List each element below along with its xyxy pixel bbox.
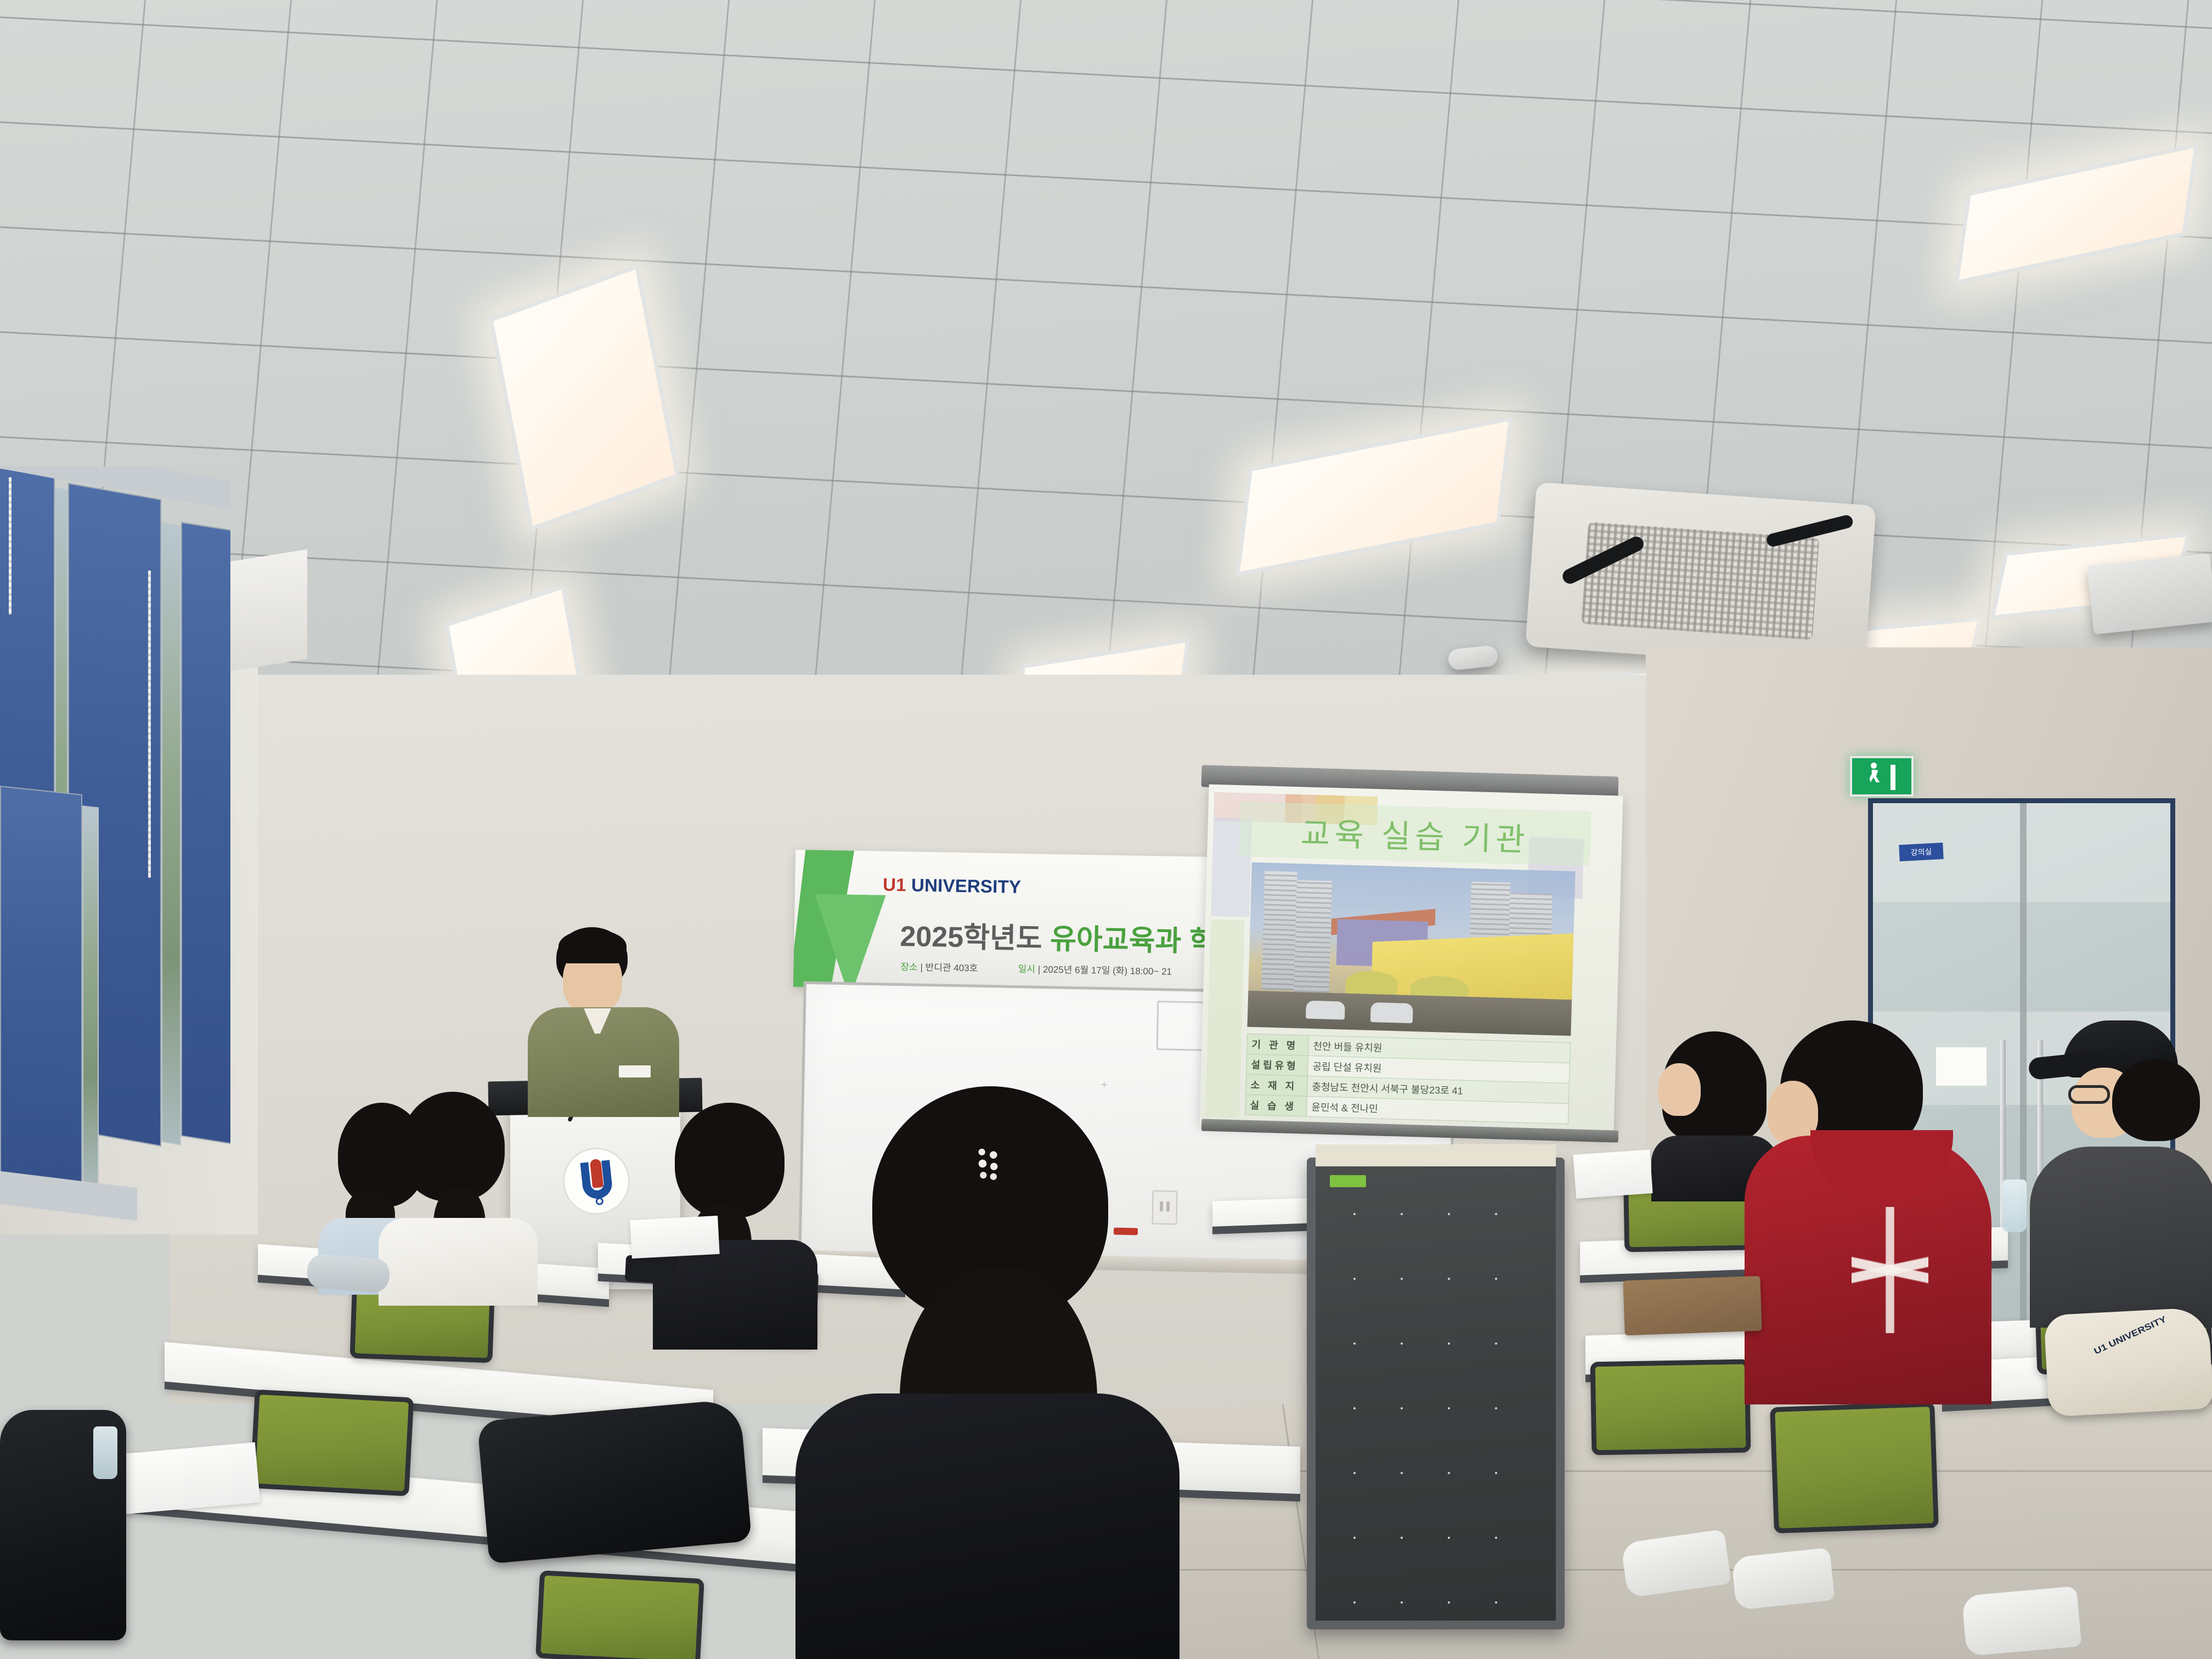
classroom-chair[interactable]	[1770, 1402, 1939, 1533]
tote-bag-text: U1 UNIVERSITY	[2092, 1314, 2168, 1357]
photo-parked-car	[1306, 1001, 1345, 1020]
slide-title: 교육 실습 기관	[1239, 802, 1592, 866]
paper-handout[interactable]	[630, 1216, 719, 1259]
slide-info-table: 기 관 명 천안 버들 유치원 설립유형 공립 단설 유치원 소 재 지 충청남…	[1245, 1034, 1571, 1124]
student-hair	[675, 1103, 785, 1218]
paper-handout[interactable]	[1573, 1149, 1652, 1199]
table-key: 소 재 지	[1246, 1074, 1308, 1096]
student-hair	[2112, 1059, 2200, 1141]
eyeglasses	[2068, 1085, 2110, 1104]
banner-title: 2025학년도 유아교육과 학	[900, 913, 1216, 960]
student-hair	[400, 1092, 505, 1201]
photo-apartment-tower	[1261, 871, 1297, 990]
photo-parked-car	[1370, 1002, 1413, 1023]
slide-title-band: 교육 실습 기관	[1239, 802, 1592, 866]
window-blind[interactable]	[0, 786, 82, 1200]
running-person-icon	[1869, 763, 1887, 790]
student-foreground	[795, 1086, 1180, 1659]
window-glass	[82, 805, 99, 1191]
banner-meta: 장소 | 반디관 403호 일시 | 2025년 6월 17일 (화) 18:0…	[900, 959, 1172, 978]
room-sign: 강의실	[1899, 843, 1943, 861]
pencil-case[interactable]	[306, 1254, 391, 1293]
presenter-name-badge	[619, 1065, 651, 1077]
slide-decoration	[1205, 919, 1245, 1118]
classroom-chair[interactable]	[250, 1390, 414, 1497]
student-front-left-2	[379, 1092, 538, 1300]
student-top	[2030, 1147, 2212, 1328]
banner-year: 2025학년도	[900, 921, 1042, 955]
emergency-exit-sign	[1850, 756, 1914, 797]
hoodie-graphic	[1852, 1207, 1928, 1333]
door-mullion	[2020, 803, 2027, 1331]
lecture-room-photo: U1 UNIVERSITY 2025학년도 유아교육과 학 장소 | 반디관 4…	[0, 0, 2212, 1659]
water-bottle[interactable]	[2002, 1180, 2027, 1232]
smartphone[interactable]	[625, 1255, 678, 1284]
water-bottle[interactable]	[93, 1426, 117, 1479]
classroom-chair[interactable]	[535, 1570, 704, 1659]
binder-folder[interactable]	[1623, 1276, 1762, 1336]
table-key: 실 습 생	[1245, 1094, 1307, 1116]
projection-screen: 교육 실습 기관 기 관 명 천안 버들 유치원 설립유형 공립 단설 유치원	[1199, 785, 1623, 1136]
ceiling-projector	[2087, 554, 2212, 635]
ceiling-ac-unit	[1525, 482, 1876, 670]
sneaker	[1731, 1548, 1835, 1610]
blind-chain[interactable]	[9, 477, 12, 614]
pearl-hair-clip	[977, 1145, 1001, 1182]
sneaker	[1962, 1586, 2082, 1656]
paper-handout[interactable]	[113, 1442, 261, 1515]
folded-table-perforations	[1331, 1182, 1541, 1605]
slide-photo	[1247, 862, 1575, 1036]
banner-date-label: 일시	[1018, 964, 1036, 975]
window-blind[interactable]	[181, 522, 230, 1146]
banner-brand: U1 UNIVERSITY	[883, 874, 1022, 898]
banner-brand-rest: UNIVERSITY	[906, 874, 1021, 897]
banner-place-label: 장소	[900, 962, 918, 973]
student-top	[653, 1240, 817, 1350]
student-shirt	[379, 1218, 538, 1306]
logo-dot-shape	[595, 1197, 603, 1205]
banner-department: 유아교육과 학	[1042, 923, 1216, 958]
student-with-cap	[2030, 1020, 2212, 1328]
backpack[interactable]	[477, 1399, 752, 1564]
student-red-hoodie	[1745, 1020, 1991, 1404]
banner-place-value: 반디관 403호	[926, 962, 978, 974]
folded-table-top-surface	[1316, 1144, 1556, 1166]
banner-brand-u1: U1	[883, 874, 906, 895]
window-glass	[161, 522, 181, 1145]
blind-chain[interactable]	[148, 571, 151, 878]
presenter	[527, 927, 680, 1114]
table-key: 설립유형	[1246, 1054, 1308, 1076]
student-head	[1658, 1063, 1701, 1116]
photo-apartment-tower	[1294, 880, 1333, 993]
table-key: 기 관 명	[1247, 1034, 1309, 1056]
university-logo	[560, 1144, 633, 1218]
folded-mobile-table[interactable]	[1307, 1158, 1565, 1629]
tote-bag[interactable]: U1 UNIVERSITY	[2044, 1307, 2212, 1417]
presenter-hair-front	[558, 929, 627, 963]
classroom-chair[interactable]	[1590, 1359, 1751, 1455]
folded-table-asset-label	[1330, 1175, 1366, 1187]
banner-date-value: 2025년 6월 17일 (화) 18:00~ 21	[1043, 964, 1172, 977]
exit-door-icon	[1891, 765, 1895, 790]
student-top	[795, 1393, 1180, 1659]
